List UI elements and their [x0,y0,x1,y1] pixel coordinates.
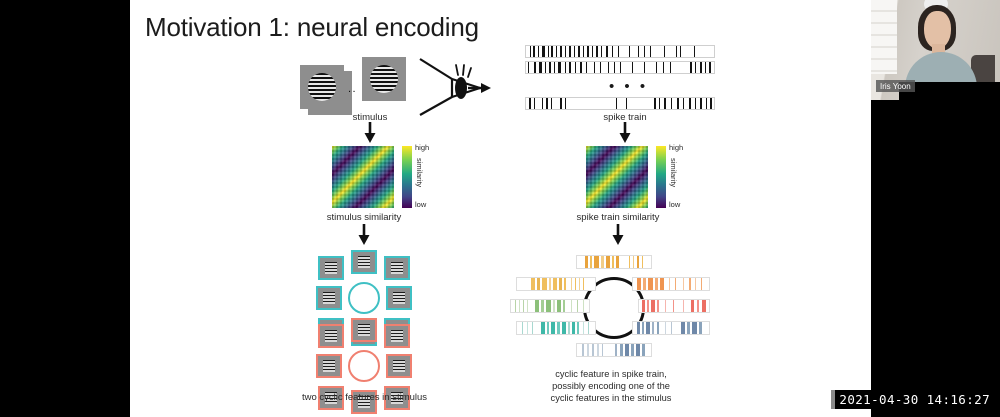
stimulus-tile [351,318,377,342]
spike-train-row [525,45,715,58]
caption-line-2: possibly encoding one of the [528,380,694,392]
stimulus-tile [384,324,410,348]
caption-cyclic-feature-spike-train: cyclic feature in spike train, possibly … [528,368,694,404]
stimulus-tile [351,250,377,274]
stimulus-tile [316,354,342,378]
ring-spike-train-lower-right [632,321,710,335]
arrow-down-stimulus-similarity-icon [357,224,371,246]
ring-spike-train-upper-left [516,277,596,291]
stimulus-ellipsis: .. [348,83,357,95]
colorbar-axis-label: similarity [669,158,678,187]
ring-spike-train-bottom [576,343,652,357]
stimulus-tile [386,286,412,310]
cycle-circle-cyan [348,282,380,314]
arrow-down-spike-similarity-icon [611,224,625,246]
participant-video-tile[interactable]: Iris Yoon [871,0,1000,100]
colorbar-high-label: high [415,143,429,152]
ring-spike-train-lower-left [516,321,596,335]
spike-train-ellipsis: • • • [609,78,648,95]
stimulus-tile [318,256,344,280]
stimulus-tile [386,354,412,378]
arrow-right-encoding-icon [468,81,492,95]
arrow-down-spike-train-icon [618,122,632,144]
ring-spike-train-mid-left [510,299,590,313]
recording-timestamp: 2021-04-30 14:16:27 [831,390,994,409]
stimulus-tile [316,286,342,310]
presentation-slide: Motivation 1: neural encoding .. [130,0,871,417]
screen-recording-frame: Motivation 1: neural encoding .. [0,0,1000,417]
window-blinds [871,0,897,74]
grating-pattern-icon [308,73,336,101]
spike-train-row [525,97,715,110]
colorbar-high-label: high [669,143,683,152]
caption-spike-train-similarity: spike train similarity [562,212,674,223]
stimulus-card-front [362,57,406,101]
cycle-circle-red [348,350,380,382]
spike-train-row [525,61,715,74]
stimulus-card-mid [300,65,344,109]
ring-spike-train-top [576,255,652,269]
colorbar-low-label: low [669,200,680,209]
participant-name-label: Iris Yoon [876,80,915,92]
colorbar-axis-label: similarity [415,158,424,187]
grating-pattern-icon [370,65,398,93]
spike-train-group: • • • [525,45,725,120]
caption-two-cyclic-features: two cyclic features in stimulus [282,392,447,403]
stimulus-tile [384,256,410,280]
caption-stimulus-similarity: stimulus similarity [318,212,410,223]
spike-train-similarity-heatmap [586,146,648,208]
caption-line-1: cyclic feature in spike train, [528,368,694,380]
ring-spike-train-mid-right [638,299,710,313]
page-title: Motivation 1: neural encoding [145,12,479,43]
colorbar-low-label: low [415,200,426,209]
ring-spike-train-upper-right [632,277,710,291]
stimulus-similarity-heatmap [332,146,394,208]
caption-line-3: cyclic features in the stimulus [528,392,694,404]
cyclic-spike-train-ring [510,255,710,365]
stimulus-tile [318,324,344,348]
arrow-down-stimulus-icon [363,122,377,144]
stimulus-colorbar [402,146,412,208]
spike-train-colorbar [656,146,666,208]
